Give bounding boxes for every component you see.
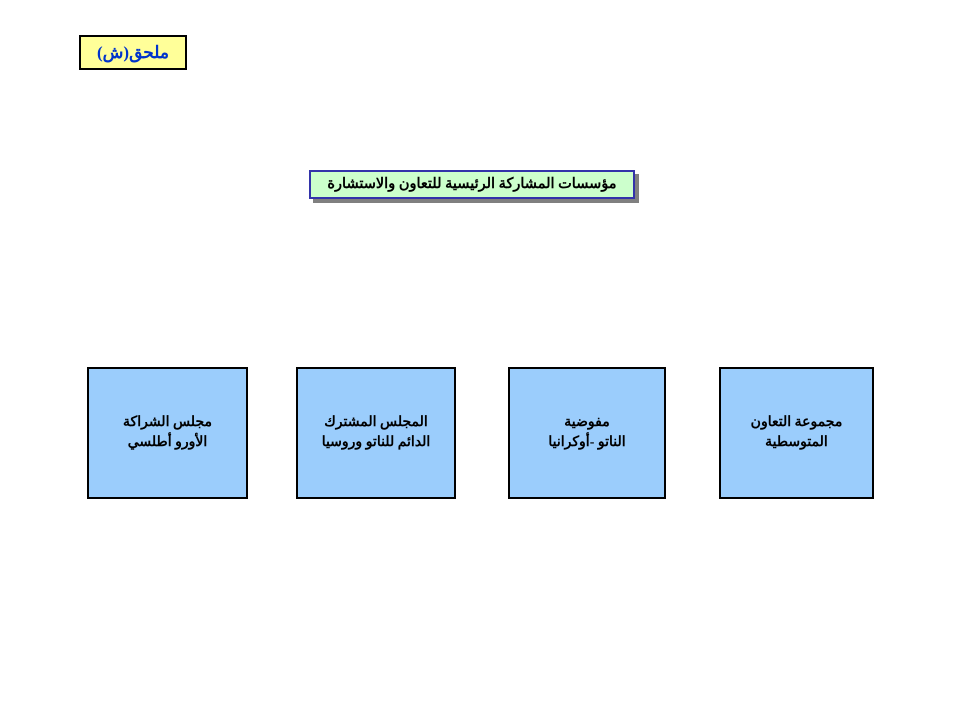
institution-box-1-line-1: مجلس الشراكة — [123, 413, 212, 433]
institution-box-2: المجلس المشترك الدائم للناتو وروسيا — [296, 367, 456, 499]
institution-box-4-label: مجموعة التعاون المتوسطية — [745, 413, 849, 454]
institution-box-4-line-1: مجموعة التعاون — [751, 413, 843, 433]
institution-box-1-line-2: الأورو أطلسي — [123, 433, 212, 453]
institution-box-4: مجموعة التعاون المتوسطية — [719, 367, 874, 499]
institution-box-3-label: مفوضية الناتو -أوكرانيا — [542, 413, 631, 454]
institution-box-4-line-2: المتوسطية — [751, 433, 843, 453]
institution-box-2-line-2: الدائم للناتو وروسيا — [322, 433, 431, 453]
institution-box-3-line-1: مفوضية — [548, 413, 625, 433]
institution-box-2-label: المجلس المشترك الدائم للناتو وروسيا — [316, 413, 437, 454]
institution-box-1-label: مجلس الشراكة الأورو أطلسي — [117, 413, 218, 454]
annex-label-text: ملحق(ش) — [97, 44, 169, 61]
institution-box-3-line-2: الناتو -أوكرانيا — [548, 433, 625, 453]
institution-box-3: مفوضية الناتو -أوكرانيا — [508, 367, 666, 499]
diagram-canvas: ملحق(ش) مؤسسات المشاركة الرئيسية للتعاون… — [0, 0, 959, 719]
title-banner-box: مؤسسات المشاركة الرئيسية للتعاون والاستش… — [309, 170, 635, 199]
title-banner-text: مؤسسات المشاركة الرئيسية للتعاون والاستش… — [327, 177, 616, 192]
annex-label-box: ملحق(ش) — [79, 35, 187, 70]
institution-box-1: مجلس الشراكة الأورو أطلسي — [87, 367, 248, 499]
institution-box-2-line-1: المجلس المشترك — [322, 413, 431, 433]
